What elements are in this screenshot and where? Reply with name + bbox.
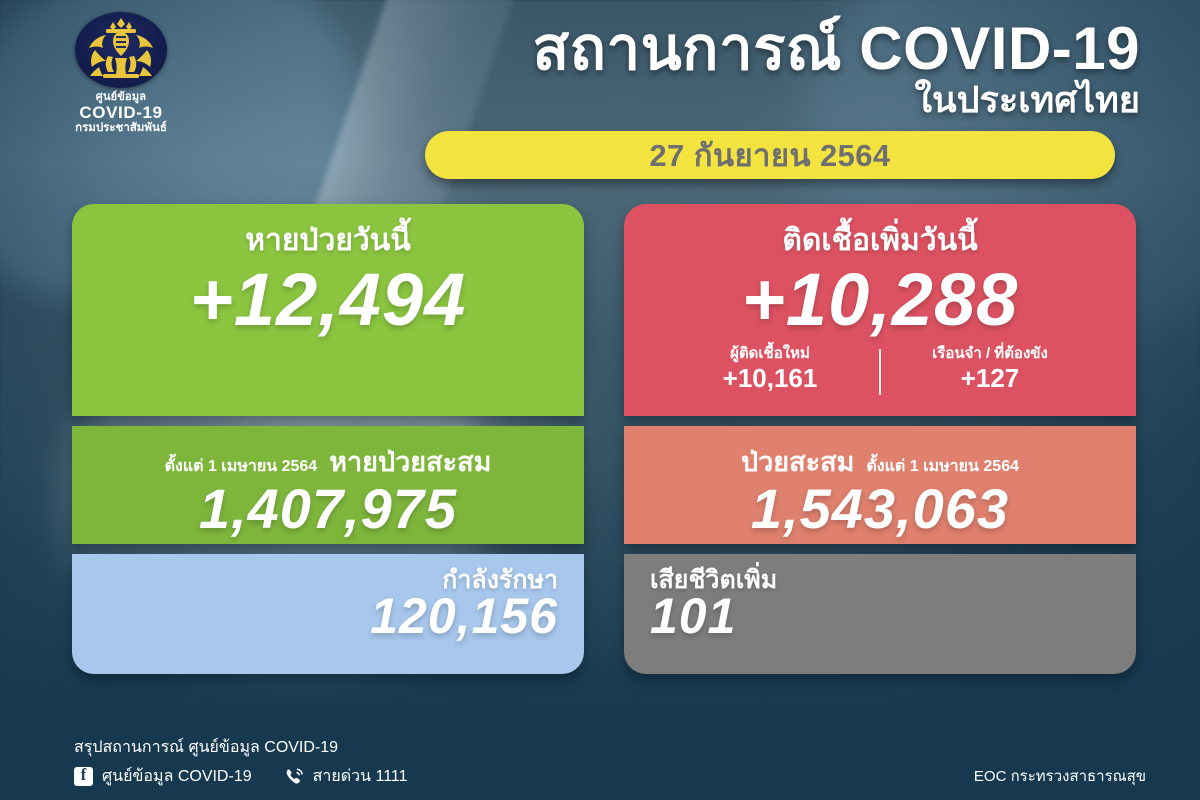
card-under-treatment: กำลังรักษา 120,156	[72, 554, 584, 674]
hotline-label[interactable]: สายด่วน 1111	[313, 764, 408, 789]
card-new-cases-today: ติดเชื้อเพิ่มวันนี้ +10,288 ผู้ติดเชื้อใ…	[624, 204, 1136, 416]
card-recovered-total: ตั้งแต่ 1 เมษายน 2564 หายป่วยสะสม 1,407,…	[72, 426, 584, 544]
facebook-icon[interactable]	[74, 767, 93, 786]
new-cases-prison: เรือนจำ / ที่ต้องขัง +127	[895, 345, 1085, 394]
new-cases-prison-value: +127	[895, 364, 1085, 394]
under-treatment-value: 120,156	[98, 591, 558, 641]
phone-icon[interactable]	[284, 768, 304, 786]
breakdown-divider	[879, 349, 881, 395]
recovered-today-value: +12,494	[98, 261, 558, 339]
date-badge: 27 กันยายน 2564	[425, 131, 1115, 179]
covid-infographic-poster: ศูนย์ข้อมูล COVID-19 กรมประชาสัมพันธ์ สถ…	[0, 0, 1200, 800]
new-cases-general-value: +10,161	[675, 364, 865, 394]
logo-line-3: กรมประชาสัมพันธ์	[46, 122, 196, 136]
footer-agency: EOC กระทรวงสาธารณสุข	[974, 764, 1146, 788]
left-stats-column: หายป่วยวันนี้ +12,494 ตั้งแต่ 1 เมษายน 2…	[72, 204, 584, 674]
recovered-total-since: ตั้งแต่ 1 เมษายน 2564	[165, 454, 318, 479]
new-cases-today-label: ติดเชื้อเพิ่มวันนี้	[650, 224, 1110, 257]
facebook-label[interactable]: ศูนย์ข้อมูล COVID-19	[102, 764, 252, 789]
date-text: 27 กันยายน 2564	[649, 130, 890, 180]
cases-total-since: ตั้งแต่ 1 เมษายน 2564	[866, 454, 1019, 479]
garuda-emblem-icon	[75, 12, 167, 88]
recovered-today-label: หายป่วยวันนี้	[98, 224, 558, 257]
deaths-today-value: 101	[650, 591, 1110, 641]
department-logo: ศูนย์ข้อมูล COVID-19 กรมประชาสัมพันธ์	[46, 12, 196, 136]
logo-line-2: COVID-19	[46, 104, 196, 123]
cases-total-value: 1,543,063	[650, 481, 1110, 537]
new-cases-general-label: ผู้ติดเชื้อใหม่	[675, 345, 865, 363]
new-cases-general: ผู้ติดเชื้อใหม่ +10,161	[675, 345, 865, 394]
card-deaths-today: เสียชีวิตเพิ่ม 101	[624, 554, 1136, 674]
card-recovered-today: หายป่วยวันนี้ +12,494	[72, 204, 584, 416]
logo-line-1: ศูนย์ข้อมูล	[46, 91, 196, 104]
footer-summary: สรุปสถานการณ์ ศูนย์ข้อมูล COVID-19	[74, 736, 408, 760]
card-cases-total: ป่วยสะสม ตั้งแต่ 1 เมษายน 2564 1,543,063	[624, 426, 1136, 544]
right-stats-column: ติดเชื้อเพิ่มวันนี้ +10,288 ผู้ติดเชื้อใ…	[624, 204, 1136, 674]
recovered-total-value: 1,407,975	[98, 481, 558, 537]
new-cases-prison-label: เรือนจำ / ที่ต้องขัง	[895, 345, 1085, 363]
footer-contacts: ศูนย์ข้อมูล COVID-19 สายด่วน 1111	[74, 764, 408, 789]
new-cases-today-value: +10,288	[650, 261, 1110, 339]
new-cases-breakdown: ผู้ติดเชื้อใหม่ +10,161 เรือนจำ / ที่ต้อ…	[650, 345, 1110, 395]
footer: สรุปสถานการณ์ ศูนย์ข้อมูล COVID-19 ศูนย์…	[74, 736, 408, 789]
